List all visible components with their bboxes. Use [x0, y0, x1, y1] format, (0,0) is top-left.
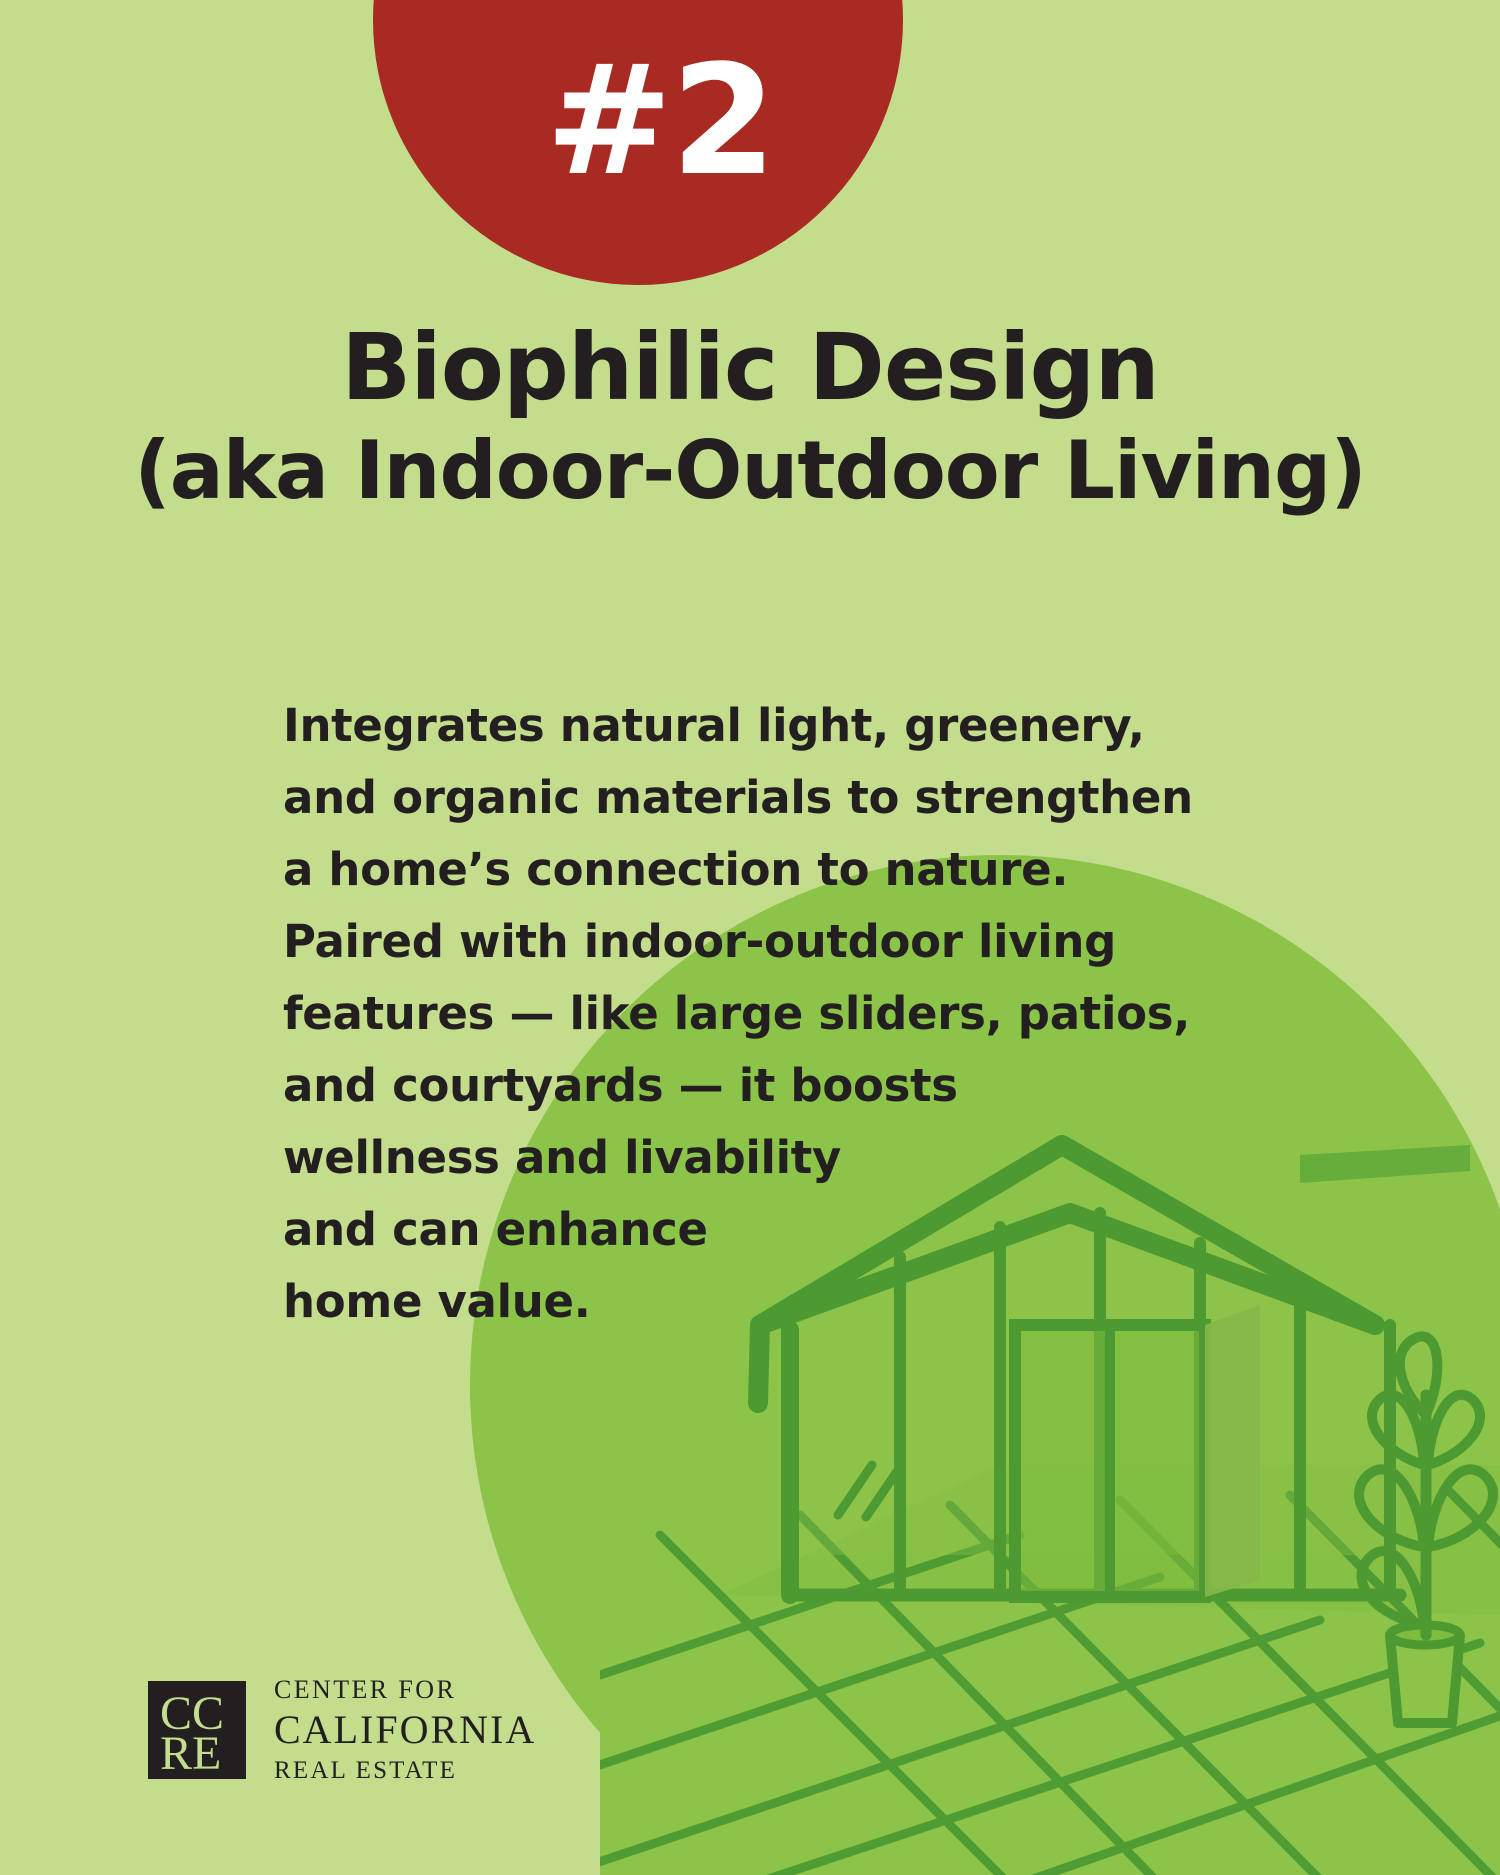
ccre-logo: CC RE CENTER FOR CALIFORNIA REAL ESTATE [148, 1677, 536, 1783]
heading-group: Biophilic Design (aka Indoor-Outdoor Liv… [0, 318, 1500, 517]
badge-number-label: #2 [545, 45, 774, 285]
page-title: Biophilic Design [0, 318, 1500, 417]
body-line: Paired with indoor-outdoor living [283, 906, 1083, 978]
logo-line-real-estate: REAL ESTATE [274, 1758, 536, 1783]
poster-canvas: #2 Biophilic Design (aka Indoor-Outdoor … [0, 0, 1500, 1875]
body-line: and can enhance [283, 1194, 1083, 1266]
body-line: home value. [283, 1266, 1083, 1338]
number-badge: #2 [373, 0, 903, 285]
body-line: features — like large sliders, patios, [283, 978, 1083, 1050]
body-line: and courtyards — it boosts [283, 1050, 1083, 1122]
body-line: a home’s connection to nature. [283, 834, 1083, 906]
logo-line-california: CALIFORNIA [274, 1710, 536, 1750]
body-line: and organic materials to strengthen [283, 762, 1083, 834]
body-copy: Integrates natural light, greenery, and … [283, 690, 1083, 1338]
monogram-bottom-text: RE [160, 1727, 221, 1779]
body-line: Integrates natural light, greenery, [283, 690, 1083, 762]
page-subtitle: (aka Indoor-Outdoor Living) [0, 425, 1500, 517]
body-line: wellness and livability [283, 1122, 1083, 1194]
logo-line-center-for: CENTER FOR [274, 1677, 536, 1703]
ccre-wordmark: CENTER FOR CALIFORNIA REAL ESTATE [274, 1677, 536, 1783]
ccre-monogram-icon: CC RE [148, 1681, 246, 1779]
